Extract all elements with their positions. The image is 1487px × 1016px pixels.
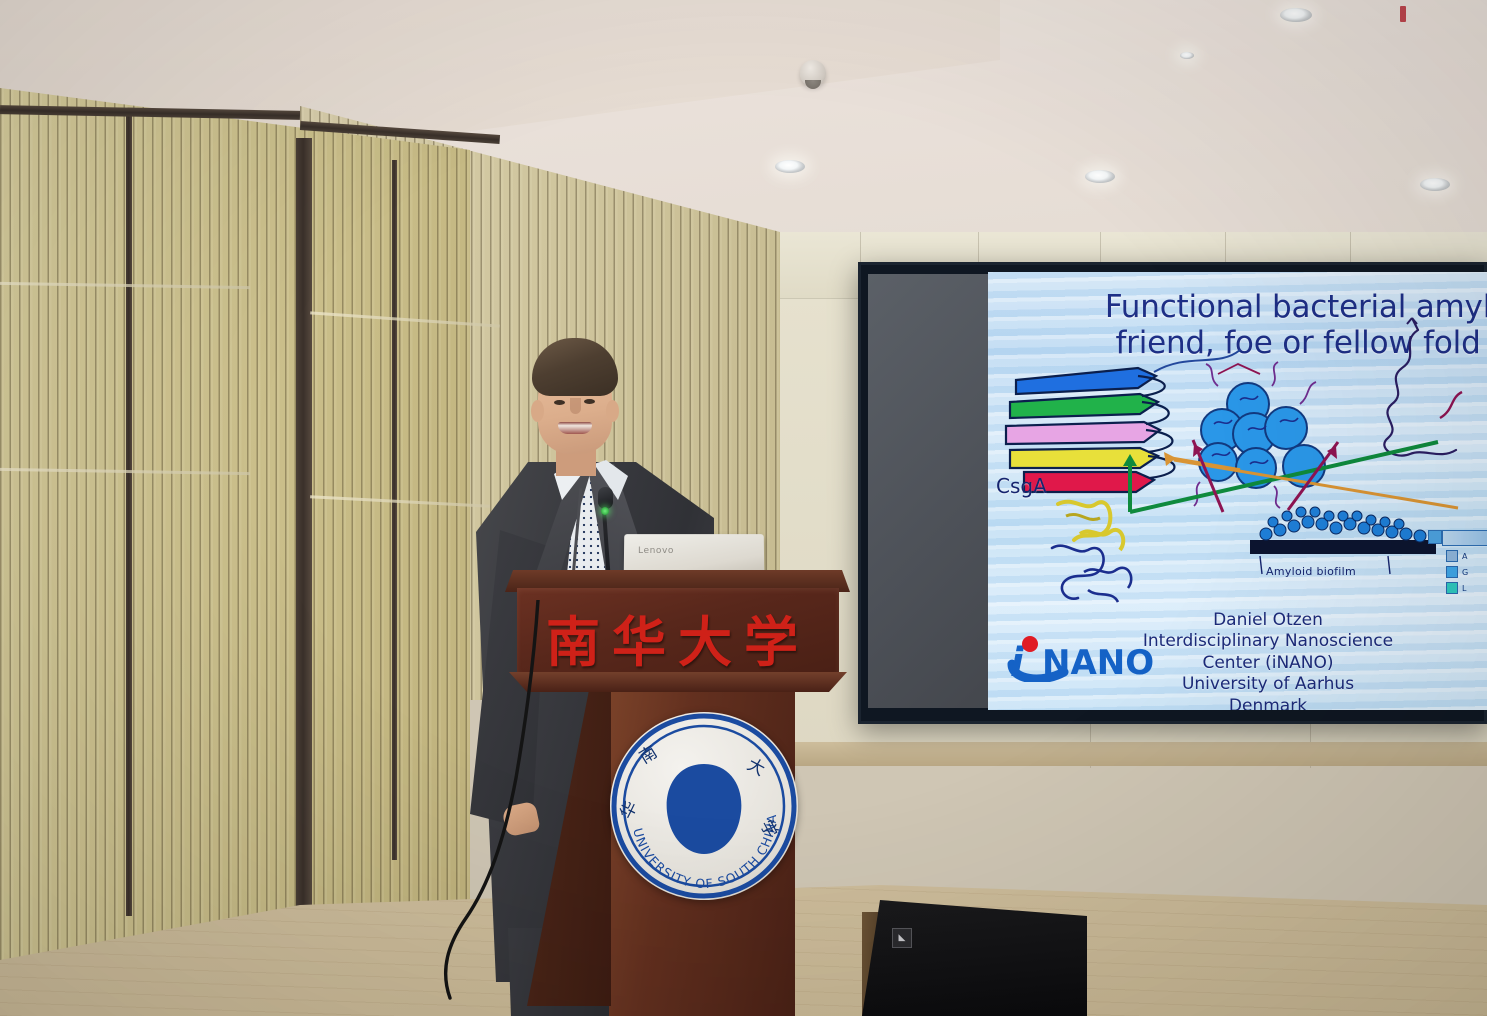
- university-emblem: UNIVERSITY OF SOUTH CHINA 南 大 华 学: [610, 712, 798, 900]
- laptop[interactable]: Lenovo: [624, 534, 764, 574]
- legend-square-icon: [1446, 566, 1458, 578]
- wall-frame-vertical: [296, 138, 312, 978]
- ceiling-downlight-3: [1420, 178, 1450, 191]
- legend-item-label: A: [1462, 552, 1467, 561]
- speaker-ear-right: [606, 400, 619, 422]
- slide-legend: A G L: [1428, 530, 1487, 594]
- legend-item-label: G: [1462, 568, 1468, 577]
- screen-inactive-area: [868, 274, 990, 708]
- ceiling-downlight-5: [1180, 52, 1194, 59]
- presentation-slide: Functional bacterial amyl friend, foe or…: [988, 272, 1487, 710]
- left-wall-slat-panel: [0, 0, 470, 960]
- ceiling-downlight-4: [1280, 8, 1312, 22]
- legend-bar: [1442, 530, 1487, 546]
- legend-item-label: L: [1462, 584, 1466, 593]
- wall-frame-vertical: [392, 160, 397, 860]
- stage-monitor-speaker: ◣: [862, 900, 1087, 1016]
- emblem-cn-char-2: 大: [744, 755, 768, 781]
- legend-square-icon: [1446, 582, 1458, 594]
- microphone-head: [598, 487, 613, 509]
- laptop-brand-label: Lenovo: [638, 546, 674, 556]
- podium-plaque-text: 南华大学: [517, 598, 839, 677]
- csga-label: CsgA: [996, 474, 1047, 498]
- speaker-hair: [532, 338, 618, 396]
- ceiling-downlight-2: [1085, 170, 1115, 183]
- inano-logo-dot: [1022, 636, 1038, 652]
- legend-row: G: [1446, 566, 1487, 578]
- podium-side-panel: [527, 690, 611, 1006]
- unfolded-protein-coil: [1384, 318, 1462, 456]
- presentation-photo-scene: Functional bacterial amyl friend, foe or…: [0, 0, 1487, 1016]
- csga-structure: [1052, 502, 1131, 602]
- presenter-country: Denmark: [1088, 696, 1448, 710]
- amyloid-biofilm: [1250, 507, 1436, 574]
- podium-lip: [509, 672, 847, 692]
- legend-row: A: [1446, 550, 1487, 562]
- slat-texture: [0, 0, 470, 960]
- amyloid-biofilm-label: Amyloid biofilm: [1266, 565, 1356, 578]
- speaker-mouth: [558, 422, 592, 434]
- podium-front-plaque: 南华大学: [517, 588, 839, 674]
- microphone-status-led: [601, 507, 609, 515]
- ceiling-downlight-1: [775, 160, 805, 173]
- legend-chip-icon: [1428, 530, 1442, 544]
- emblem-cn-char-3: 华: [617, 798, 642, 822]
- speaker-eye-right: [584, 399, 595, 404]
- speaker-brand-badge: ◣: [892, 928, 912, 948]
- speaker-eye-left: [554, 400, 565, 405]
- legend-row: L: [1446, 582, 1487, 594]
- speaker-nose: [570, 398, 581, 414]
- presenter-name: Daniel Otzen: [1088, 610, 1448, 631]
- inano-logo-text: NANO: [1042, 643, 1154, 682]
- smoke-detector: [800, 60, 826, 86]
- wall-frame-vertical: [126, 116, 132, 916]
- emblem-flower-mark: [667, 764, 742, 854]
- legend-square-icon: [1446, 550, 1458, 562]
- ceiling-marker: [1400, 6, 1406, 22]
- speaker-ear-left: [531, 400, 544, 422]
- inano-logo: i NANO: [1006, 634, 1188, 682]
